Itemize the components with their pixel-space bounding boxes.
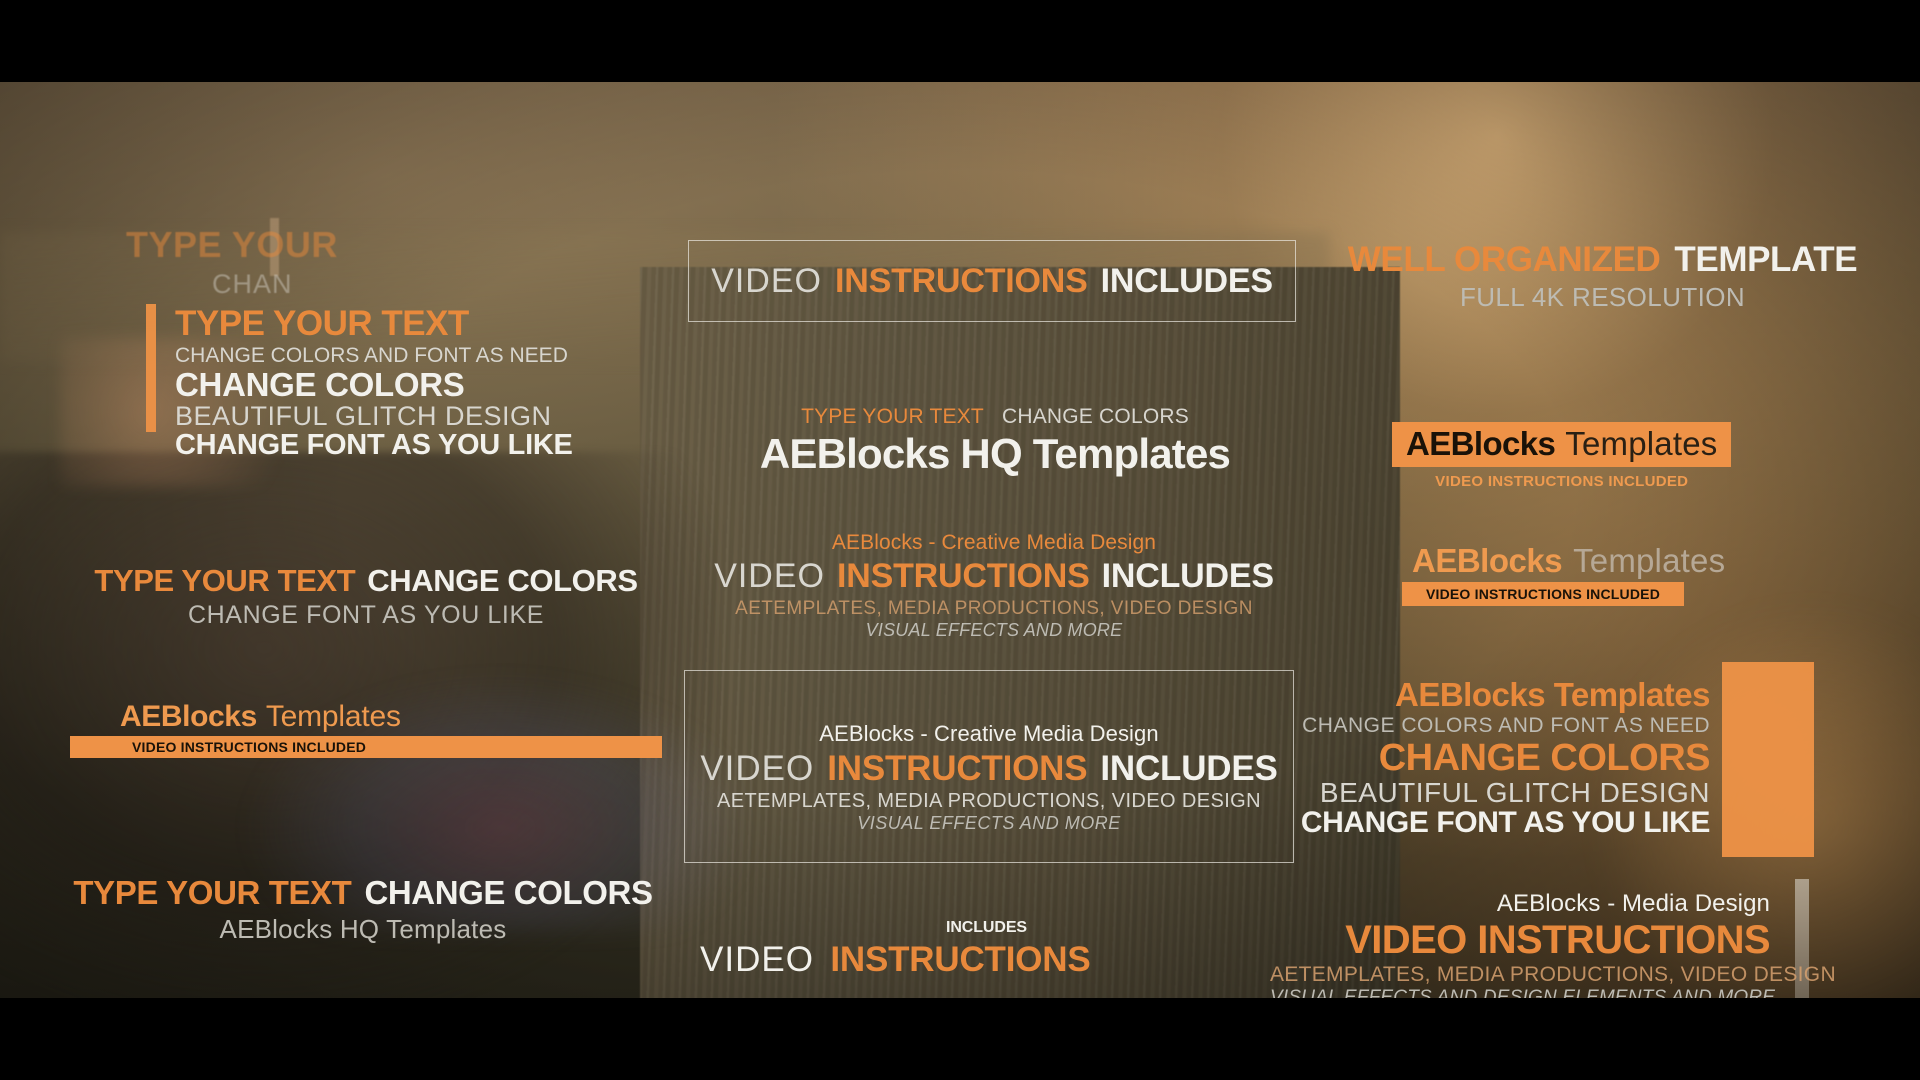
center-block-e: VIDEO INSTRUCTIONS INCLUDES xyxy=(700,942,1100,977)
center-block-e-word1: VIDEO xyxy=(700,940,814,979)
letterbox-bottom xyxy=(0,998,1920,1080)
left-block-c-bar: VIDEO INSTRUCTIONS INCLUDED xyxy=(70,736,662,758)
right-block-d-sub3: BEAUTIFUL GLITCH DESIGN xyxy=(1270,779,1710,807)
left-block-b-sub: CHANGE FONT AS YOU LIKE xyxy=(96,603,636,628)
center-block-c: AEBlocks - Creative Media Design VIDEO I… xyxy=(688,532,1300,639)
left-block-d-sub: AEBlocks HQ Templates xyxy=(78,916,648,942)
center-block-d-sub2: VISUAL EFFECTS AND MORE xyxy=(685,814,1293,832)
center-block-d-word2: INSTRUCTIONS xyxy=(827,751,1087,786)
left-block-a-sub3: BEAUTIFUL GLITCH DESIGN xyxy=(175,403,573,430)
right-block-b-box: AEBlocks Templates xyxy=(1392,422,1731,467)
right-block-e-title: VIDEO INSTRUCTIONS xyxy=(1270,920,1770,960)
right-block-d-sub2: CHANGE COLORS xyxy=(1270,739,1710,777)
center-block-c-kicker: AEBlocks - Creative Media Design xyxy=(688,532,1300,553)
center-block-d-word3: INCLUDES xyxy=(1100,751,1277,786)
left-block-d-title-orange: TYPE YOUR TEXT xyxy=(73,876,351,909)
right-block-e-sub1: AETEMPLATES, MEDIA PRODUCTIONS, VIDEO DE… xyxy=(1270,964,1770,985)
left-block-a: TYPE YOUR TEXT CHANGE COLORS AND FONT AS… xyxy=(175,306,573,460)
right-block-c-title-bold: AEBlocks xyxy=(1412,544,1562,577)
right-block-d-sub4: CHANGE FONT AS YOU LIKE xyxy=(1270,808,1710,838)
right-block-a: WELL ORGANIZED TEMPLATE FULL 4K RESOLUTI… xyxy=(1345,242,1860,310)
right-block-b: AEBlocks Templates VIDEO INSTRUCTIONS IN… xyxy=(1392,422,1731,489)
left-block-a-sub4: CHANGE FONT AS YOU LIKE xyxy=(175,431,573,460)
center-block-a-word1: VIDEO xyxy=(711,264,822,298)
center-block-d-frame: AEBlocks - Creative Media Design VIDEO I… xyxy=(684,670,1294,863)
ghost-title-line1: TYPE YOUR xyxy=(126,227,338,263)
video-preview-area: TYPE YOUR CHAN TYPE YOUR TEXT CHANGE COL… xyxy=(0,82,1920,998)
left-block-a-title: TYPE YOUR TEXT xyxy=(175,306,573,341)
right-block-c: AEBlocks Templates VIDEO INSTRUCTIONS IN… xyxy=(1402,544,1725,606)
left-block-a-sub2: CHANGE COLORS xyxy=(175,368,573,401)
left-block-d: TYPE YOUR TEXT CHANGE COLORS AEBlocks HQ… xyxy=(78,876,648,942)
center-block-c-word1: VIDEO xyxy=(714,559,825,593)
left-block-b-title-white: CHANGE COLORS xyxy=(367,565,637,596)
center-block-c-sub2: VISUAL EFFECTS AND MORE xyxy=(688,621,1300,639)
right-block-c-title-thin: Templates xyxy=(1573,544,1725,577)
center-block-c-word3: INCLUDES xyxy=(1102,559,1274,593)
right-block-d: AEBlocks Templates CHANGE COLORS AND FON… xyxy=(1270,678,1710,838)
left-block-b-title-orange: TYPE YOUR TEXT xyxy=(94,565,355,596)
right-block-d-title: AEBlocks Templates xyxy=(1270,678,1710,711)
right-block-d-accent-rect xyxy=(1722,662,1814,857)
right-block-d-sub1: CHANGE COLORS AND FONT AS NEED xyxy=(1270,715,1710,736)
ghost-title-group: TYPE YOUR CHAN xyxy=(126,227,338,298)
right-block-a-sub: FULL 4K RESOLUTION xyxy=(1345,284,1860,310)
center-block-d-kicker: AEBlocks - Creative Media Design xyxy=(685,723,1293,745)
right-block-e-kicker: AEBlocks - Media Design xyxy=(1270,892,1770,916)
center-block-a-word2: INSTRUCTIONS xyxy=(835,264,1088,298)
left-block-c-title-thin: Templates xyxy=(266,702,401,732)
center-block-c-sub1: AETEMPLATES, MEDIA PRODUCTIONS, VIDEO DE… xyxy=(688,599,1300,618)
ghost-title-line2: CHAN xyxy=(212,271,338,298)
center-block-c-word2: INSTRUCTIONS xyxy=(837,559,1090,593)
center-block-d-word1: VIDEO xyxy=(700,751,814,786)
right-block-e-sub2: VISUAL EFFECTS AND DESIGN ELEMENTS AND M… xyxy=(1270,988,1770,998)
center-block-d-sub1: AETEMPLATES, MEDIA PRODUCTIONS, VIDEO DE… xyxy=(685,791,1293,811)
center-block-b-kicker-orange: TYPE YOUR TEXT xyxy=(801,406,984,427)
right-block-a-title-white: TEMPLATE xyxy=(1674,242,1857,277)
right-block-b-title-thin: Templates xyxy=(1565,427,1717,460)
left-block-c-bar-label: VIDEO INSTRUCTIONS INCLUDED xyxy=(132,740,366,754)
center-block-a-word3: INCLUDES xyxy=(1101,264,1273,298)
left-block-a-sub1: CHANGE COLORS AND FONT AS NEED xyxy=(175,345,573,366)
left-block-d-title-white: CHANGE COLORS xyxy=(364,876,652,909)
right-block-e: AEBlocks - Media Design VIDEO INSTRUCTIO… xyxy=(1270,892,1770,998)
left-block-c-title-bold: AEBlocks xyxy=(120,702,257,732)
center-block-b: TYPE YOUR TEXT CHANGE COLORS AEBlocks HQ… xyxy=(690,406,1300,475)
right-block-a-title-orange: WELL ORGANIZED xyxy=(1348,242,1661,277)
left-block-a-accent-bar xyxy=(146,304,156,432)
center-block-a-frame: VIDEO INSTRUCTIONS INCLUDES xyxy=(688,240,1296,322)
right-block-b-caption: VIDEO INSTRUCTIONS INCLUDED xyxy=(1392,474,1731,489)
center-block-e-superscript: INCLUDES xyxy=(946,920,1027,936)
left-block-b: TYPE YOUR TEXT CHANGE COLORS CHANGE FONT… xyxy=(96,565,636,628)
letterbox-top xyxy=(0,0,1920,82)
right-block-c-bar: VIDEO INSTRUCTIONS INCLUDED xyxy=(1402,582,1684,606)
left-block-c: AEBlocks Templates VIDEO INSTRUCTIONS IN… xyxy=(116,702,662,758)
right-block-c-bar-label: VIDEO INSTRUCTIONS INCLUDED xyxy=(1426,587,1660,601)
screenshot-stage: TYPE YOUR CHAN TYPE YOUR TEXT CHANGE COL… xyxy=(0,0,1920,1080)
center-block-e-word2: INSTRUCTIONS xyxy=(830,940,1090,979)
right-block-b-title-bold: AEBlocks xyxy=(1406,427,1555,460)
center-block-b-kicker-white: CHANGE COLORS xyxy=(1002,406,1189,427)
center-block-b-title: AEBlocks HQ Templates xyxy=(690,433,1300,475)
